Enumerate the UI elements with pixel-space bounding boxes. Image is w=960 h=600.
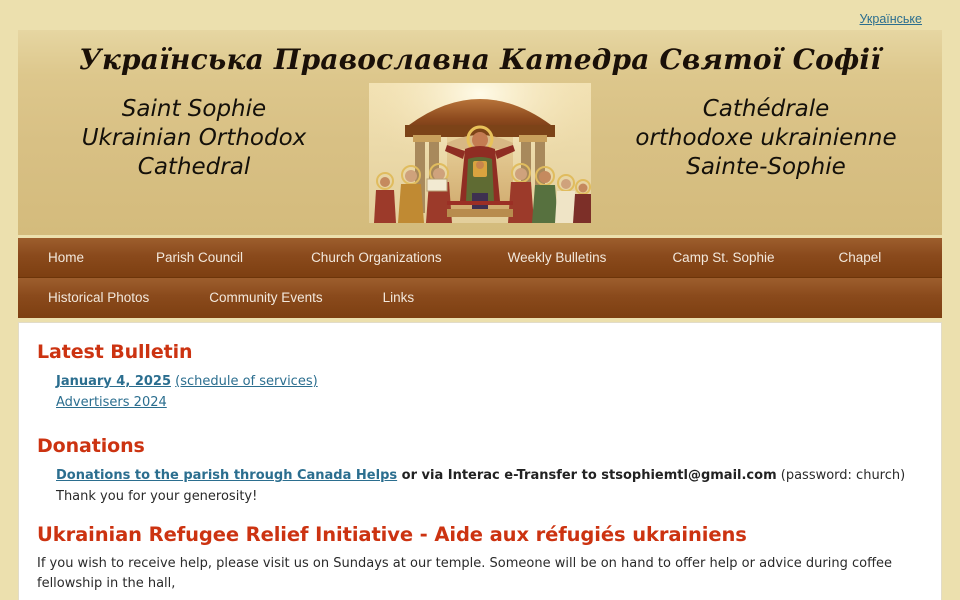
nav-item-weekly-bulletins[interactable]: Weekly Bulletins <box>492 238 657 278</box>
main-content-panel: Latest Bulletin January 4, 2025 (schedul… <box>18 322 942 600</box>
nav-item-links[interactable]: Links <box>367 278 431 318</box>
bulletin-date-link[interactable]: January 4, 2025 <box>56 374 171 389</box>
interac-text: or via Interac e-Transfer to stsophiemtl… <box>397 468 777 483</box>
nav-row-secondary: Historical Photos Community Events Links <box>18 278 942 318</box>
banner-title-ukrainian: Українська Православна Катедра Святої Со… <box>18 30 942 77</box>
holy-wisdom-icon <box>369 83 591 223</box>
holy-wisdom-icon-art <box>369 83 591 223</box>
refugee-initiative-heading: Ukrainian Refugee Relief Initiative - Ai… <box>37 523 923 546</box>
banner-french-line-1: Cathédrale <box>601 95 931 124</box>
main-navigation: Home Parish Council Church Organizations… <box>18 238 942 318</box>
advertisers-link[interactable]: Advertisers 2024 <box>56 395 167 410</box>
nav-item-camp-st-sophie[interactable]: Camp St. Sophie <box>656 238 822 278</box>
nav-item-community-events[interactable]: Community Events <box>193 278 366 318</box>
nav-item-historical-photos[interactable]: Historical Photos <box>18 278 193 318</box>
latest-bulletin-heading: Latest Bulletin <box>37 341 923 363</box>
bulletin-date-line: January 4, 2025 (schedule of services) <box>56 371 923 392</box>
canada-helps-link[interactable]: Donations to the parish through Canada H… <box>56 468 397 483</box>
site-banner: Українська Православна Катедра Святої Со… <box>18 30 942 235</box>
donations-thanks: Thank you for your generosity! <box>56 486 923 507</box>
banner-english-line-3: Cathedral <box>29 153 359 182</box>
bulletin-schedule-link[interactable]: (schedule of services) <box>175 374 318 389</box>
banner-french-line-2: orthodoxe ukrainienne <box>601 124 931 153</box>
nav-item-chapel[interactable]: Chapel <box>823 238 898 278</box>
donations-password-note: (password: church) <box>777 468 906 483</box>
nav-item-parish-council[interactable]: Parish Council <box>140 238 295 278</box>
banner-english-line-1: Saint Sophie <box>29 95 359 124</box>
latest-bulletin-links: January 4, 2025 (schedule of services) A… <box>37 371 923 413</box>
language-link-ukrainian[interactable]: Українське <box>860 12 922 26</box>
banner-title-french: Cathédrale orthodoxe ukrainienne Sainte-… <box>601 83 931 182</box>
donations-body: Donations to the parish through Canada H… <box>37 465 923 507</box>
banner-columns: Saint Sophie Ukrainian Orthodox Cathedra… <box>18 83 942 223</box>
donations-heading: Donations <box>37 435 923 457</box>
refugee-initiative-paragraph: If you wish to receive help, please visi… <box>37 554 923 594</box>
donations-line: Donations to the parish through Canada H… <box>56 465 923 486</box>
nav-item-home[interactable]: Home <box>18 238 140 278</box>
banner-english-line-2: Ukrainian Orthodox <box>29 124 359 153</box>
banner-title-english: Saint Sophie Ukrainian Orthodox Cathedra… <box>29 83 359 182</box>
nav-row-primary: Home Parish Council Church Organizations… <box>18 238 942 278</box>
banner-french-line-3: Sainte-Sophie <box>601 153 931 182</box>
nav-item-church-organizations[interactable]: Church Organizations <box>295 238 492 278</box>
top-utility-bar: Українське <box>0 0 960 30</box>
advertisers-line: Advertisers 2024 <box>56 392 923 413</box>
